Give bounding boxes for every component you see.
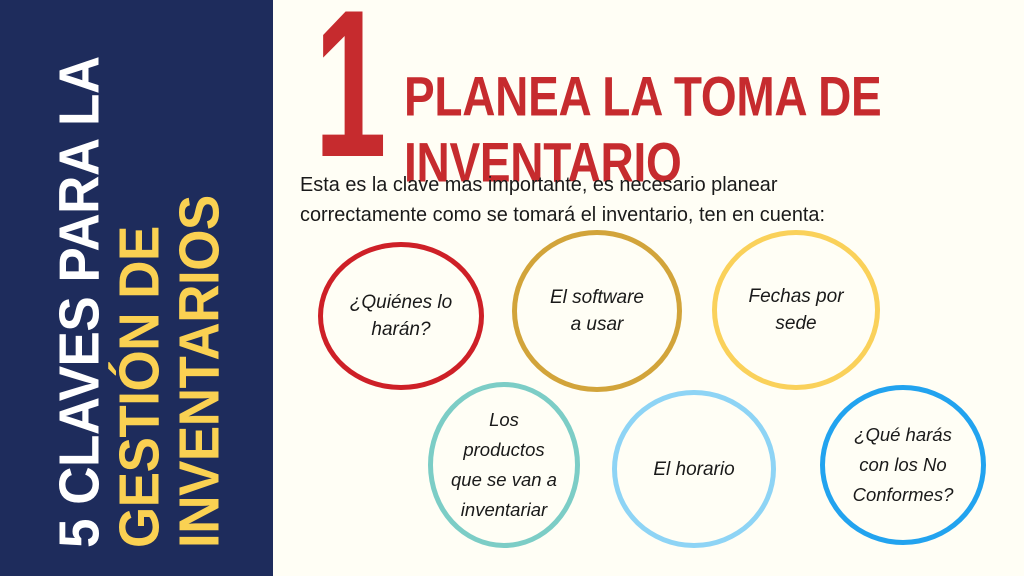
- bubble-label: Los productos que se van a inventariar: [445, 405, 563, 525]
- bubble-los-productos: Los productos que se van a inventariar: [428, 382, 580, 548]
- bubble-label: ¿Quiénes lo harán?: [344, 289, 458, 343]
- bubble-el-software-a-usar: El software a usar: [512, 230, 682, 392]
- bubble-label: El horario: [647, 456, 740, 483]
- bubble-el-horario: El horario: [612, 390, 776, 548]
- sidebar-title-line-2: GESTIÓN DE: [112, 226, 168, 548]
- bubble-label: El software a usar: [544, 284, 650, 338]
- step-number: 1: [314, 8, 374, 160]
- bubble-label: Fechas por sede: [742, 283, 849, 337]
- intro-line-2: correctamente como se tomará el inventar…: [300, 200, 985, 230]
- sidebar-title-line-3: INVENTARIOS: [172, 195, 228, 548]
- intro-line-1: Esta es la clave mas importante, es nece…: [300, 173, 777, 196]
- intro-paragraph: Esta es la clave mas importante, es nece…: [300, 170, 985, 230]
- sidebar-title-line-1: 5 CLAVES PARA LA: [52, 56, 108, 548]
- sidebar-banner: 5 CLAVES PARA LA GESTIÓN DE INVENTARIOS: [0, 0, 273, 576]
- bubble-no-conformes: ¿Qué harás con los No Conformes?: [820, 385, 986, 545]
- bubble-fechas-por-sede: Fechas por sede: [712, 230, 880, 390]
- bubble-quienes-lo-haran: ¿Quiénes lo harán?: [318, 242, 484, 390]
- slide-canvas: 5 CLAVES PARA LA GESTIÓN DE INVENTARIOS …: [0, 0, 1024, 576]
- bubble-label: ¿Qué harás con los No Conformes?: [847, 420, 960, 510]
